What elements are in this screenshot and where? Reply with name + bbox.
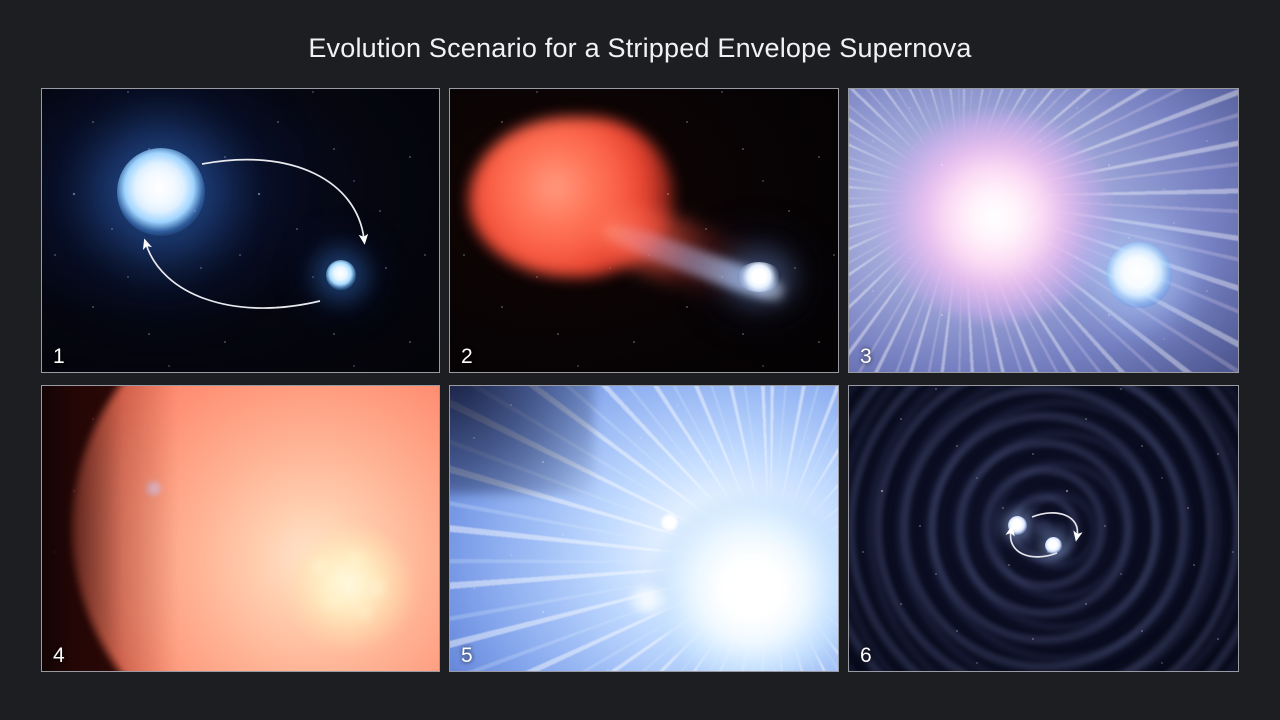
- panel-massive-binary-pair: 1: [41, 88, 440, 373]
- accreting-companion-icon: [737, 262, 781, 292]
- starfield-icon: [450, 386, 838, 671]
- panel-number: 5: [461, 645, 473, 666]
- orbital-motion-arrows-icon: [849, 386, 1238, 671]
- scene-first-supernova: [849, 89, 1238, 372]
- panel-number: 3: [860, 346, 872, 367]
- panel-number: 6: [860, 645, 872, 666]
- panel-common-envelope: 4: [41, 385, 440, 672]
- panel-mass-transfer: 2: [449, 88, 839, 373]
- scene-massive-binary-pair: [42, 89, 439, 372]
- orbital-motion-arrows-icon: [42, 89, 439, 372]
- panel-neutron-star-binary: 6: [848, 385, 1239, 672]
- panel-first-supernova: 3: [848, 88, 1239, 373]
- starfield-icon: [849, 89, 1238, 372]
- envelope-shadow-icon: [42, 386, 177, 671]
- panel-grid: 1 2 3 4: [41, 88, 1239, 672]
- scene-second-supernova: [450, 386, 838, 671]
- panel-second-supernova: 5: [449, 385, 839, 672]
- scene-common-envelope: [42, 386, 439, 671]
- scene-neutron-star-binary: [849, 386, 1238, 671]
- scene-mass-transfer: [450, 89, 838, 372]
- page-title: Evolution Scenario for a Stripped Envelo…: [0, 33, 1280, 64]
- core-mottling-icon: [296, 537, 400, 635]
- panel-number: 1: [53, 346, 65, 367]
- panel-number: 2: [461, 346, 473, 367]
- panel-number: 4: [53, 645, 65, 666]
